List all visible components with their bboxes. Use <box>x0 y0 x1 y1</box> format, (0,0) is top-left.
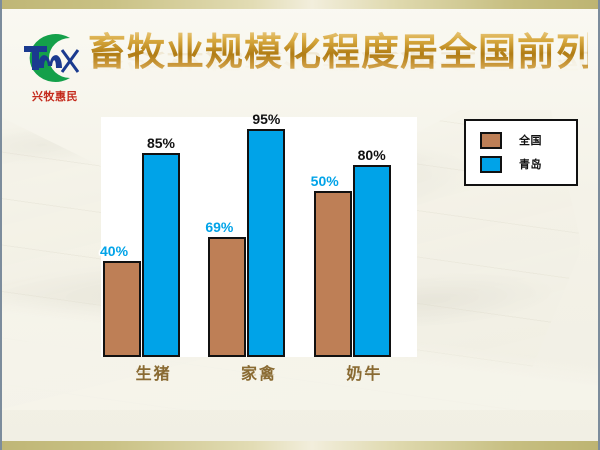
legend-item-national[interactable]: 全国 <box>480 128 576 152</box>
bar-qingdao[interactable] <box>247 129 285 357</box>
slide-title-block: 畜牧业规模化程度居全国前列 畜牧业规模化程度居全国前列 <box>88 30 588 108</box>
bar-group: 69%95% <box>206 117 311 357</box>
bar-national[interactable] <box>103 261 141 357</box>
chart-legend: 全国 青岛 <box>464 119 578 186</box>
bar-chart: 40%85%69%95%50%80% <box>101 117 417 357</box>
left-border <box>0 0 2 450</box>
bar-qingdao[interactable] <box>142 153 180 357</box>
legend-swatch-qingdao <box>480 156 502 173</box>
bar-value-label: 80% <box>350 148 394 162</box>
bar-value-label: 40% <box>100 244 128 258</box>
bar-value-label: 69% <box>205 220 233 234</box>
bar-national[interactable] <box>314 191 352 357</box>
slide-canvas: 兴牧惠民 畜牧业规模化程度居全国前列 畜牧业规模化程度居全国前列 40%85%6… <box>0 0 600 450</box>
bottom-accent-strip <box>0 441 600 450</box>
legend-item-qingdao[interactable]: 青岛 <box>480 152 576 176</box>
logo-mark-icon <box>8 28 92 88</box>
category-axis-label-reflection: 奶牛 <box>312 367 417 379</box>
bar-group: 40%85% <box>101 117 206 357</box>
bar-value-label: 95% <box>244 112 288 126</box>
logo-caption: 兴牧惠民 <box>17 88 93 104</box>
category-axis-label-reflection: 生猪 <box>101 367 206 379</box>
page-title-reflection: 畜牧业规模化程度居全国前列 <box>88 48 588 73</box>
legend-swatch-national <box>480 132 502 149</box>
legend-label-national: 全国 <box>519 132 542 148</box>
category-axis-label-reflection: 家禽 <box>206 367 311 379</box>
bar-qingdao[interactable] <box>353 165 391 357</box>
chart-plot-area: 40%85%69%95%50%80% <box>101 117 417 357</box>
bar-value-label: 50% <box>311 174 339 188</box>
bar-national[interactable] <box>208 237 246 357</box>
xingmu-huimin-logo: 兴牧惠民 <box>8 28 92 106</box>
legend-label-qingdao: 青岛 <box>519 156 542 172</box>
bar-group: 50%80% <box>312 117 417 357</box>
top-accent-strip <box>0 0 600 9</box>
bar-value-label: 85% <box>139 136 183 150</box>
